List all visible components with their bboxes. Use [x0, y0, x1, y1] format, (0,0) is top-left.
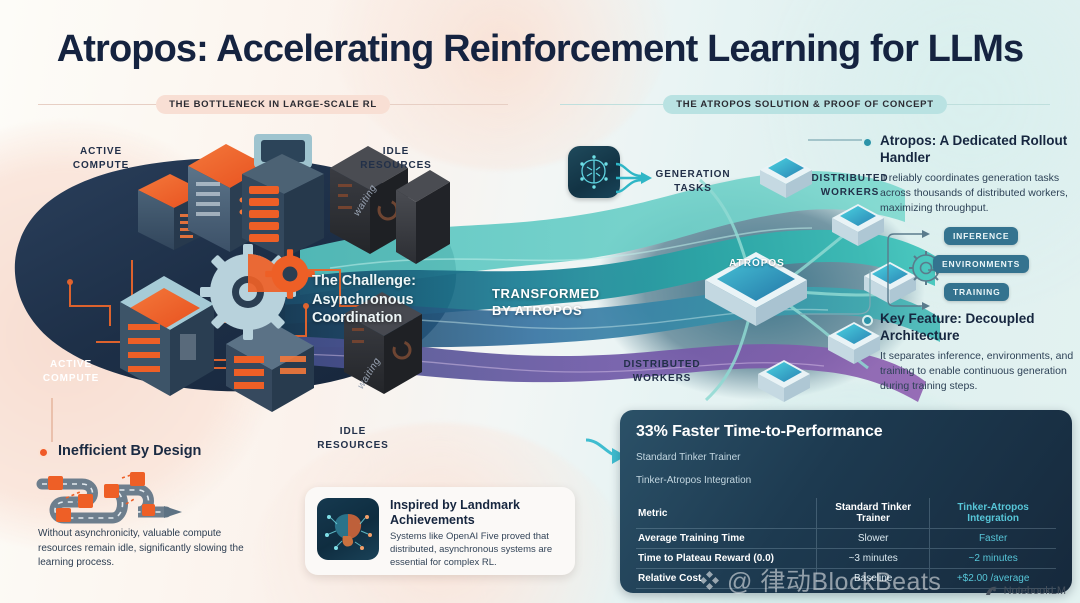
results-panel: 33% Faster Time-to-Performance Standard …	[620, 410, 1072, 593]
leader-line-annotation-2	[800, 270, 882, 320]
annotation-heading: Key Feature: Decoupled Architecture	[880, 311, 1080, 344]
bullet-dot-orange-icon	[38, 447, 49, 458]
inefficient-body: Without asynchronicity, valuable compute…	[38, 527, 253, 571]
worker-cube	[828, 322, 880, 364]
metric-name: Average Training Time	[636, 529, 817, 549]
label-active-compute-top: ACTIVE COMPUTE	[56, 145, 146, 172]
brain-network-icon	[317, 498, 379, 560]
metric-atropos-value: Faster	[930, 529, 1056, 549]
annotation-heading: Atropos: A Dedicated Rollout Handler	[880, 133, 1080, 166]
worker-cube	[758, 360, 810, 402]
winding-road-illustration	[34, 468, 224, 526]
watermark-notebooklm-text: NotebookLM	[1004, 585, 1066, 597]
legend-standard-tinker: Standard Tinker Trainer	[636, 452, 1056, 463]
annotation-atropos-rollout-handler: Atropos: A Dedicated Rollout Handler It …	[880, 133, 1080, 216]
pipeline-pill-training[interactable]: TRAINING	[944, 283, 1009, 301]
bullet-dot-icon	[862, 137, 873, 148]
legend-tinker-atropos: Tinker-Atropos Integration	[636, 475, 1056, 486]
table-row: Average Training Time Slower Faster	[636, 529, 1056, 549]
label-idle-resources-bottom: IDLE RESOURCES	[305, 425, 401, 452]
table-row: Time to Plateau Reward (0.0) ~3 minutes …	[636, 549, 1056, 569]
inspired-card-body: Systems like OpenAI Five proved that dis…	[390, 531, 563, 569]
leader-line-annotation-1	[808, 132, 868, 148]
metric-standard-value: Slower	[817, 529, 930, 549]
column-header-atropos: Tinker-Atropos Integration	[930, 498, 1056, 529]
metric-atropos-value: ~2 minutes	[930, 549, 1056, 569]
notebooklm-logo-icon	[985, 584, 999, 598]
bullet-dot-icon	[862, 315, 873, 326]
page-title: Atropos: Accelerating Reinforcement Lear…	[0, 28, 1080, 71]
column-header-standard: Standard Tinker Trainer	[817, 498, 930, 529]
metrics-table: Metric Standard Tinker Trainer Tinker-At…	[636, 498, 1056, 589]
metric-name: Relative Cost	[636, 569, 817, 589]
rule-left	[560, 104, 663, 105]
pipeline-pill-inference[interactable]: INFERENCE	[944, 227, 1018, 245]
hub-label-atropos: ATROPOS	[705, 243, 809, 283]
worker-cube	[832, 204, 884, 246]
inspired-card-heading: Inspired by Landmark Achievements	[390, 498, 563, 528]
caption-challenge: The Challenge: Asynchronous Coordination	[312, 272, 416, 328]
rule-left	[38, 104, 156, 105]
annotation-body: It separates inference, environments, an…	[880, 349, 1080, 394]
rule-right	[947, 104, 1050, 105]
gear-cluster-icon	[196, 234, 316, 354]
metric-standard-value: ~3 minutes	[817, 549, 930, 569]
results-heading: 33% Faster Time-to-Performance	[636, 423, 1056, 441]
label-idle-resources-top: IDLE RESOURCES	[348, 145, 444, 172]
annotation-body: It reliably coordinates generation tasks…	[880, 171, 1080, 216]
inefficient-heading: Inefficient By Design	[58, 443, 201, 459]
label-distributed-workers-bottom: DISTRIBUTED WORKERS	[612, 358, 712, 385]
inspired-card: Inspired by Landmark Achievements System…	[305, 487, 575, 575]
watermark-notebooklm: NotebookLM	[985, 584, 1066, 598]
column-header-metric: Metric	[636, 498, 817, 529]
metric-standard-value: Baseline	[817, 569, 930, 589]
pipeline-pill-environments[interactable]: ENVIRONMENTS	[933, 255, 1029, 273]
infographic-canvas: Atropos: Accelerating Reinforcement Lear…	[0, 0, 1080, 603]
table-header-row: Metric Standard Tinker Trainer Tinker-At…	[636, 498, 1056, 529]
label-active-compute-bottom: ACTIVE COMPUTE	[26, 358, 116, 385]
metric-name: Time to Plateau Reward (0.0)	[636, 549, 817, 569]
rule-right	[390, 104, 508, 105]
annotation-decoupled-architecture: Key Feature: Decoupled Architecture It s…	[880, 311, 1080, 394]
